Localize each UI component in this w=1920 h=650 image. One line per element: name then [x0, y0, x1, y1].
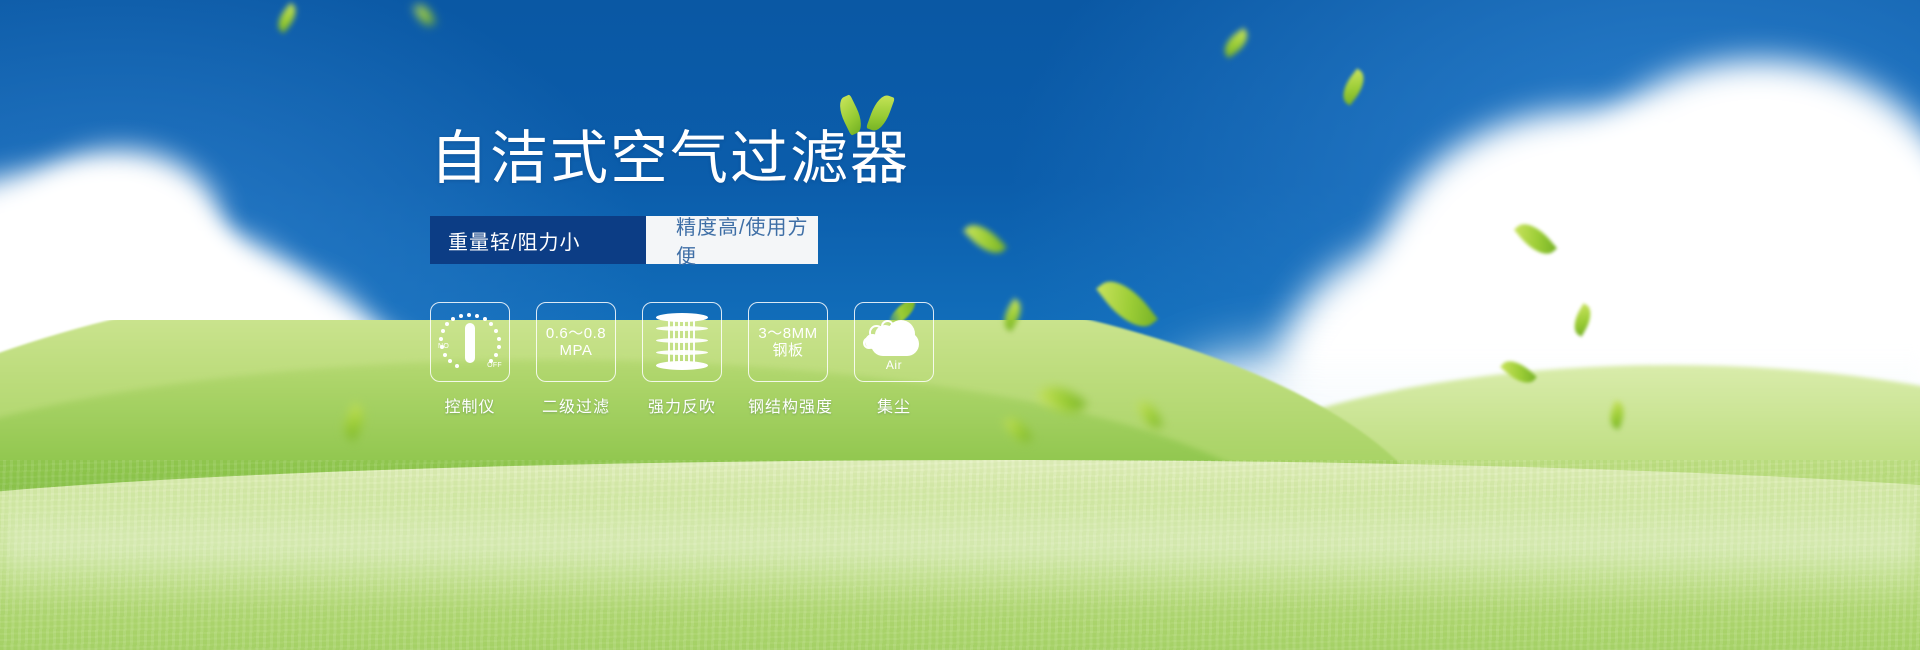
- control-gauge-icon: NO OFF: [437, 311, 503, 373]
- sprout-leaf-left: [835, 94, 867, 136]
- feature-item-controller[interactable]: NO OFF 控制仪: [430, 302, 510, 417]
- air-dust-cloud-icon: Air: [861, 312, 927, 372]
- feature-item-strong-backblow[interactable]: 强力反吹: [642, 302, 722, 417]
- feature-label: 钢结构强度: [748, 393, 828, 417]
- pressure-text-icon: 0.6～0.8 MPA: [546, 325, 606, 360]
- pressure-unit: MPA: [546, 342, 606, 359]
- feature-label: 强力反吹: [642, 393, 722, 417]
- feature-item-steel-strength[interactable]: 3～8MM 钢板 钢结构强度: [748, 302, 828, 417]
- filter-stack-icon: [656, 313, 708, 371]
- tab-label: 重量轻/阻力小: [448, 226, 581, 255]
- feature-icon-box: [642, 302, 722, 382]
- feature-icon-list: NO OFF 控制仪 0.6～0.8 MPA 二级过滤: [430, 302, 990, 417]
- page-title: 自洁式空气过滤器: [430, 130, 990, 188]
- steel-plate-text-icon: 3～8MM 钢板: [758, 325, 817, 360]
- feature-tabs: 重量轻/阻力小 精度高/使用方便: [430, 216, 818, 264]
- gauge-off-label: OFF: [487, 362, 502, 369]
- product-hero-banner: 自洁式空气过滤器 重量轻/阻力小 精度高/使用方便: [0, 0, 1920, 650]
- feature-label: 二级过滤: [536, 393, 616, 417]
- feature-icon-box: Air: [854, 302, 934, 382]
- dust-particle-icon: [881, 320, 894, 333]
- feature-item-dust-collection[interactable]: Air 集尘: [854, 302, 934, 417]
- feature-item-secondary-filtration[interactable]: 0.6～0.8 MPA 二级过滤: [536, 302, 616, 417]
- banner-content: 自洁式空气过滤器 重量轻/阻力小 精度高/使用方便: [430, 130, 990, 417]
- air-text: Air: [861, 358, 927, 372]
- feature-icon-box: NO OFF: [430, 302, 510, 382]
- tab-label: 精度高/使用方便: [676, 211, 818, 269]
- sprout-leaf-right: [866, 92, 895, 134]
- leaf-sprout-icon: [834, 94, 904, 136]
- feature-label: 集尘: [854, 393, 934, 417]
- dust-particle-icon: [863, 337, 875, 349]
- feature-label: 控制仪: [430, 393, 510, 417]
- steel-thickness: 3～8MM: [758, 325, 817, 342]
- gauge-on-label: NO: [438, 343, 449, 350]
- feature-icon-box: 0.6～0.8 MPA: [536, 302, 616, 382]
- tab-precision-easyuse[interactable]: 精度高/使用方便: [646, 216, 818, 264]
- gauge-needle: [465, 323, 475, 363]
- tab-lightweight-lowresistance[interactable]: 重量轻/阻力小: [430, 216, 666, 264]
- feature-icon-box: 3～8MM 钢板: [748, 302, 828, 382]
- pressure-range: 0.6～0.8: [546, 325, 606, 342]
- steel-material: 钢板: [758, 342, 817, 359]
- grass-highlight: [0, 490, 1920, 610]
